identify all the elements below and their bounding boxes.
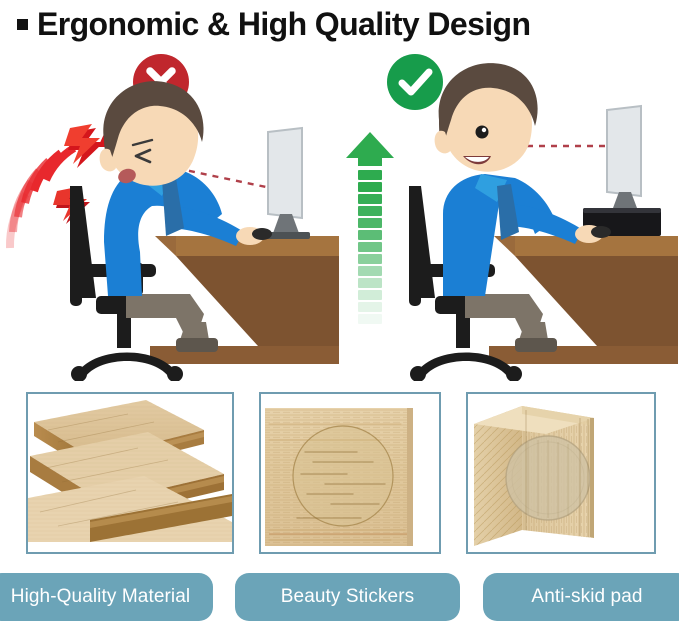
scene-bad-posture bbox=[0, 46, 339, 381]
product-infographic: Ergonomic & High Quality Design bbox=[0, 0, 679, 630]
square-bullet-icon bbox=[17, 19, 28, 30]
photo-anti-skid-pad bbox=[466, 392, 656, 554]
caption-anti-skid-pad: Anti-skid pad bbox=[483, 573, 679, 621]
illustration-upright-worker bbox=[339, 46, 678, 381]
caption-high-quality-material: High-Quality Material bbox=[0, 573, 213, 621]
caption-label: Beauty Stickers bbox=[281, 586, 415, 608]
scene-good-posture bbox=[339, 46, 678, 381]
page-title: Ergonomic & High Quality Design bbox=[37, 8, 530, 40]
photo-sticker bbox=[259, 392, 441, 554]
caption-beauty-stickers: Beauty Stickers bbox=[235, 573, 460, 621]
caption-label: High-Quality Material bbox=[11, 586, 191, 608]
photo-material bbox=[26, 392, 234, 554]
illustration-slouched-worker bbox=[0, 46, 339, 381]
caption-label: Anti-skid pad bbox=[531, 586, 642, 608]
page-title-bar: Ergonomic & High Quality Design bbox=[0, 0, 679, 46]
